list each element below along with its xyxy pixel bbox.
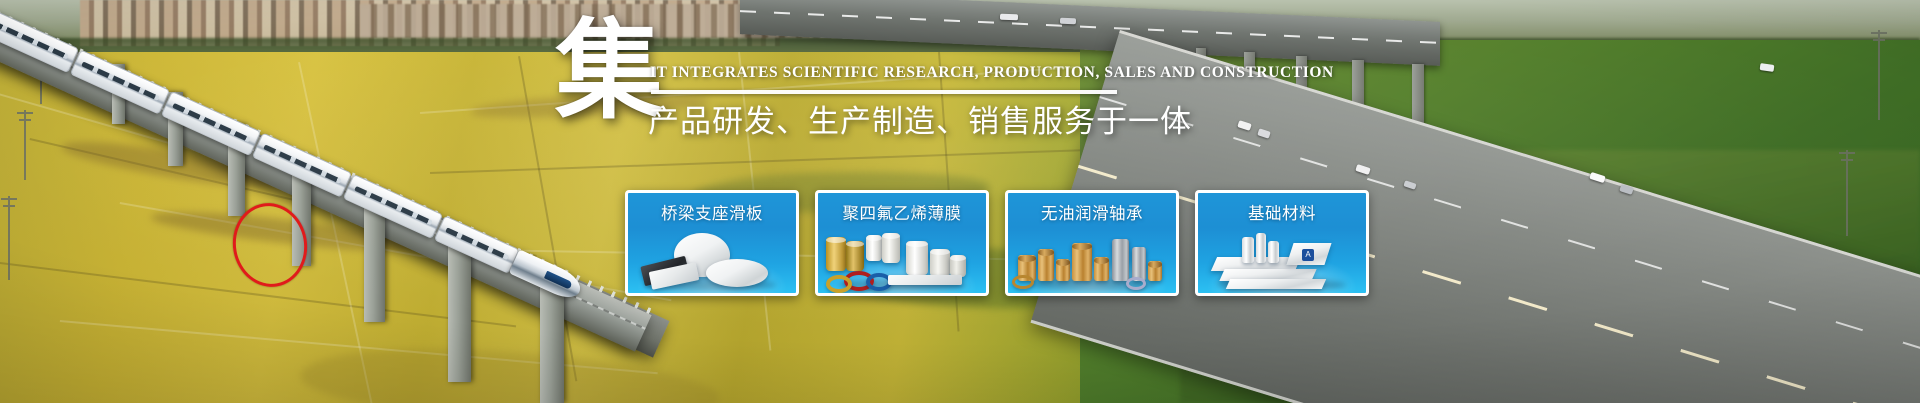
ptfe-sliding-plate-icon: [628, 231, 796, 293]
product-card-bridge-sliding-plate[interactable]: 桥梁支座滑板: [625, 190, 799, 296]
car: [1060, 18, 1076, 25]
product-card-raw-material[interactable]: 基础材料 A: [1195, 190, 1369, 296]
product-card-title: 基础材料: [1198, 200, 1366, 224]
oilless-bearings-icon: [1008, 231, 1176, 293]
tagline-chinese: 产品研发、生产制造、销售服务于一体: [648, 96, 1192, 141]
divider-rule: [651, 90, 1117, 94]
raw-material-blocks-icon: A: [1198, 231, 1366, 293]
product-card-list: 桥梁支座滑板 聚四氟乙烯薄膜: [625, 190, 1369, 296]
product-card-title: 桥梁支座滑板: [628, 200, 796, 224]
product-card-oilless-bearing[interactable]: 无油润滑轴承: [1005, 190, 1179, 296]
utility-pole: [1846, 150, 1848, 236]
hero-banner: 集 IT INTEGRATES SCIENTIFIC RESEARCH, PRO…: [0, 0, 1920, 403]
car: [1000, 14, 1018, 21]
utility-pole: [1878, 30, 1880, 120]
headline-character: 集: [555, 18, 663, 126]
ptfe-film-rolls-icon: [818, 231, 986, 293]
tagline-english: IT INTEGRATES SCIENTIFIC RESEARCH, PRODU…: [650, 64, 1334, 82]
material-label-tag: A: [1302, 249, 1314, 261]
product-card-ptfe-film[interactable]: 聚四氟乙烯薄膜: [815, 190, 989, 296]
product-card-title: 无油润滑轴承: [1008, 200, 1176, 224]
product-card-title: 聚四氟乙烯薄膜: [818, 200, 986, 224]
